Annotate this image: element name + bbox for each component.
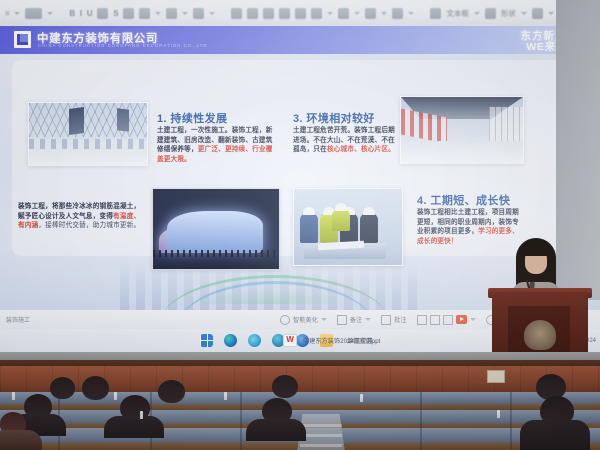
hall-column [117,108,129,131]
water-bottle [224,392,227,400]
presenter-fringe [522,244,550,256]
audience-head [158,380,185,403]
chevron-down-icon[interactable] [365,318,371,321]
distribute-icon[interactable] [295,8,306,19]
numbering-icon[interactable] [365,8,376,19]
section-2-body: 装饰工程，将那些冷冰冰的钢筋混凝土，赋予匠心设计及人文气息，变得有温度、有内涵，… [18,202,146,231]
chevron-down-icon[interactable] [182,12,188,15]
notes-button[interactable]: 备注 [337,315,371,325]
active-window-title[interactable]: 中建东方装饰2024届校园... [303,336,378,345]
comments-label: 批注 [394,315,406,324]
water-bottle [140,411,143,419]
water-bottle [12,392,15,400]
ribbon-group-insert[interactable]: 文本框 形状 [425,4,559,22]
font-color-icon[interactable] [139,8,150,19]
water-bottle [114,392,117,400]
superscript-icon[interactable] [123,8,134,19]
audience-head [50,377,75,399]
aisle-step [300,434,342,437]
notes-label: 备注 [350,315,362,324]
text-shadow-icon[interactable] [97,8,108,19]
chevron-down-icon[interactable] [548,12,554,15]
audience-head [272,375,298,398]
start-button-icon[interactable] [200,334,213,347]
aisle-step [300,444,342,447]
office-ribbon-toolbar[interactable]: ≡ B I U S [0,0,600,26]
italic-icon[interactable]: I [80,8,82,19]
edge-browser-icon[interactable] [224,334,237,347]
chevron-down-icon[interactable] [321,318,327,321]
slide-header-bar: 中建东方装饰有限公司 CHINA CONSTRUCTION DONGFANG D… [0,26,600,54]
seated-audience [0,366,600,450]
section-1-heading: 1. 持续性发展 [157,110,227,126]
audience-shoulders [246,419,306,441]
hall-floor [29,149,147,165]
chevron-down-icon[interactable] [47,12,53,15]
audience-shoulders [0,430,42,450]
ribbon-group-font[interactable]: B I U S [64,4,220,22]
strikethrough-icon[interactable]: S [113,8,118,19]
chevron-down-icon[interactable] [354,12,360,15]
company-logo-icon [14,31,31,48]
hard-hat [363,207,375,215]
section-4-heading: 4. 工期短、成长快 [417,192,510,208]
water-bottle [360,394,363,402]
seat-divider [240,392,242,450]
photo-site-workers [293,188,403,266]
chevron-down-icon[interactable] [209,12,215,15]
chevron-down-icon[interactable] [474,12,480,15]
status-bar-left-text: 装饰施工 [6,315,30,324]
night-crowd-silhouette [153,250,279,257]
section-3-body-highlight: 核心城市、核心片区。 [327,146,395,153]
wall-plate [487,370,505,383]
section-3-heading: 3. 环境相对较好 [293,110,375,126]
bullets-icon[interactable] [338,8,349,19]
shape-icon[interactable] [485,8,496,19]
roof-truss [29,103,147,137]
smart-beautify-button[interactable]: 智能美化 [280,315,327,325]
audience-shoulders [104,416,164,438]
sparkle-icon [280,315,290,325]
taskbar-active-window[interactable]: W 中建东方装饰2024届校园... [283,334,378,347]
align-left-icon[interactable] [231,8,242,19]
slide-sorter-icon[interactable] [430,315,440,325]
chevron-down-icon[interactable] [14,12,20,15]
chevron-down-icon[interactable] [521,12,527,15]
chevron-down-icon[interactable] [381,12,387,15]
worker-figure [360,213,378,243]
arrange-icon[interactable] [532,8,543,19]
chevron-down-icon[interactable] [408,12,414,15]
view-buttons[interactable] [417,315,476,325]
worker-figure [332,209,350,231]
indent-icon[interactable] [392,8,403,19]
notes-icon [337,315,347,325]
section-3-body: 土建工程危苦开荒。装饰工程后期进场。不在大山、不在荒漠、不在孤岛，只在核心城市、… [293,126,397,155]
photo-night-building [152,188,280,270]
seat-divider [510,392,512,450]
chevron-down-icon[interactable] [470,318,476,321]
ribbon-group-clipboard[interactable]: ≡ [0,4,58,22]
corridor-floor [401,141,523,163]
university-emblem [524,320,556,350]
comments-button[interactable]: 批注 [381,315,406,325]
normal-view-icon[interactable] [417,315,427,325]
justify-icon[interactable] [279,8,290,19]
audience-shoulders [520,420,590,450]
line-spacing-icon[interactable] [311,8,322,19]
shape-label[interactable]: 形状 [501,8,516,19]
water-bottle [497,410,500,418]
photo-terminal-hall [28,102,148,166]
paste-icon[interactable] [25,8,42,19]
wps-presentation-icon: W [283,334,297,347]
chevron-down-icon[interactable] [327,12,333,15]
text-box-label[interactable]: 文本框 [446,8,469,19]
hall-column [69,107,84,135]
bold-icon[interactable]: B [69,8,74,19]
reading-view-icon[interactable] [443,315,453,325]
company-name-en: CHINA CONSTRUCTION DONGFANG DECORATION C… [38,43,208,48]
auditorium-scene: ≡ B I U S [0,0,600,450]
underline-icon[interactable]: U [87,8,92,19]
photo-mall-corridor [400,96,524,164]
align-center-icon[interactable] [247,8,258,19]
chevron-down-icon[interactable] [155,12,161,15]
hard-hat [303,207,315,215]
seat-divider [420,392,422,450]
style-dropdown-icon[interactable]: ≡ [5,8,9,19]
worker-figure [300,213,318,243]
highlight-color-icon[interactable] [166,8,177,19]
hard-hat [335,203,347,211]
smart-beautify-label: 智能美化 [293,315,318,324]
night-building-main [167,211,263,253]
comment-icon [381,315,391,325]
play-slideshow-icon[interactable] [456,315,467,324]
audience-head [82,376,109,400]
text-box-icon[interactable] [430,8,441,19]
browser-icon[interactable] [248,334,261,347]
section-2-body-suffix: ，接棒时代交替，助力城市更新。 [38,222,140,229]
ribbon-group-paragraph[interactable] [226,4,419,22]
aisle-step [300,424,342,427]
align-right-icon[interactable] [263,8,274,19]
section-1-body: 土建工程，一次性施工。装饰工程，新建建筑、旧房改造、翻新装饰、古建筑修缮保养等，… [157,126,275,164]
clear-format-icon[interactable] [193,8,204,19]
